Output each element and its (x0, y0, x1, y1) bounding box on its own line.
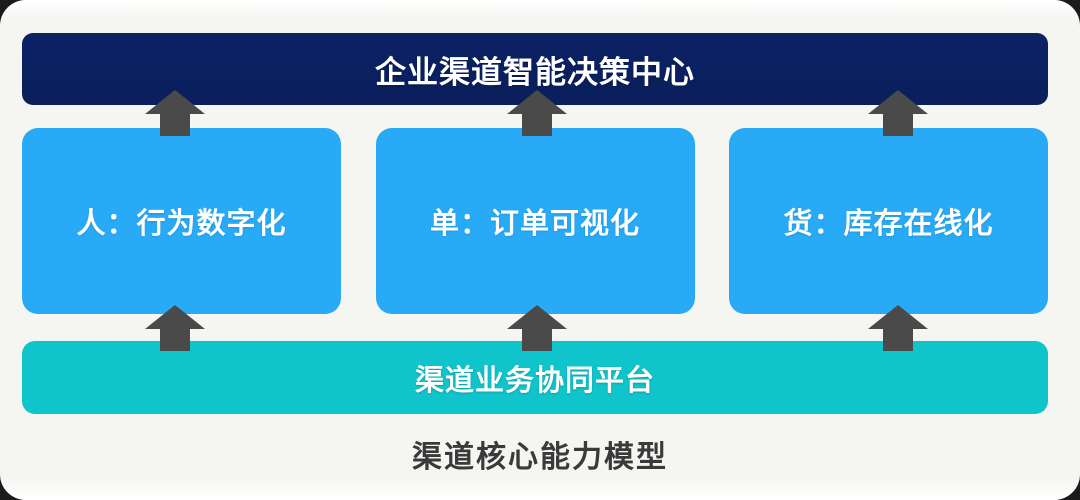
diagram-card: 企业渠道智能决策中心 人：行为数字化 单：订单可视化 货：库存在线化 渠道业务协… (0, 0, 1080, 500)
decision-center-band: 企业渠道智能决策中心 (22, 33, 1048, 105)
pillar-goods: 货：库存在线化 (729, 128, 1048, 314)
pillar-order: 单：订单可视化 (376, 128, 695, 314)
pillar-person: 人：行为数字化 (22, 128, 341, 314)
pillar-person-label: 人：行为数字化 (76, 200, 286, 242)
collaboration-platform-label: 渠道业务协同平台 (415, 357, 655, 399)
pillar-goods-label: 货：库存在线化 (783, 200, 993, 242)
decision-center-label: 企业渠道智能决策中心 (375, 47, 695, 92)
diagram-caption-text: 渠道核心能力模型 (412, 441, 668, 474)
capability-pillar-group: 人：行为数字化 单：订单可视化 货：库存在线化 (22, 128, 1048, 314)
pillar-order-label: 单：订单可视化 (430, 200, 640, 242)
diagram-caption: 渠道核心能力模型 (0, 432, 1080, 476)
collaboration-platform-band: 渠道业务协同平台 (22, 341, 1048, 414)
